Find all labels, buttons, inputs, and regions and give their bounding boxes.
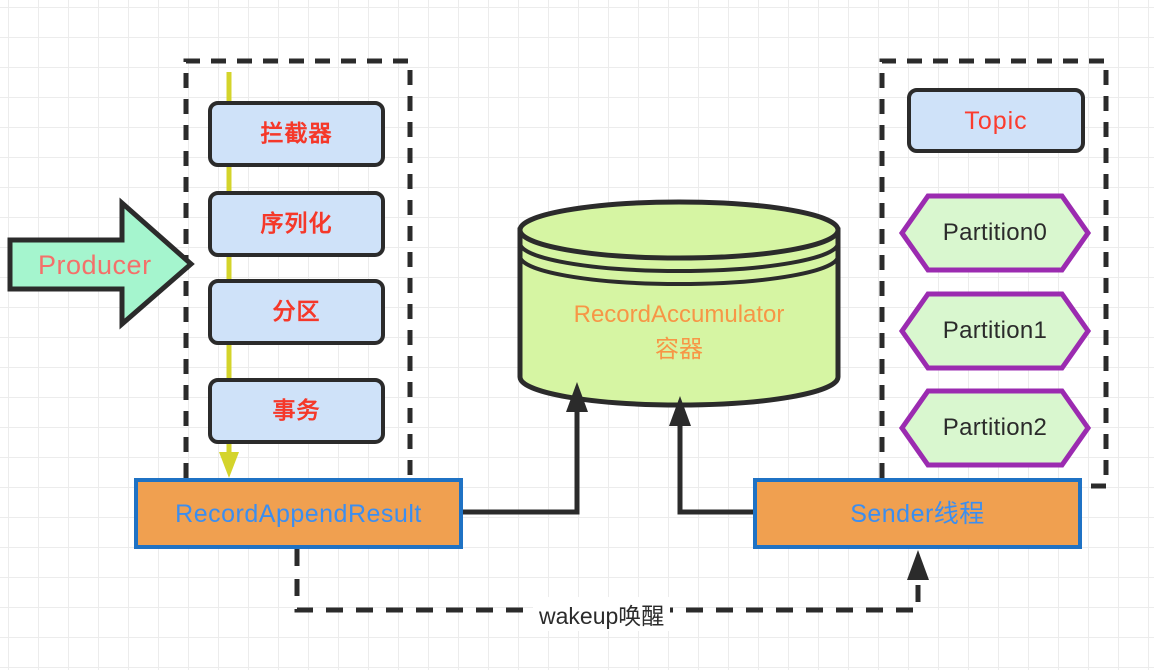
partition-2[interactable]: Partition2 xyxy=(902,391,1088,465)
pipeline-step-transaction[interactable]: 事务 xyxy=(208,378,385,444)
pipeline-step-interceptor-label: 拦截器 xyxy=(261,120,333,148)
connector-sender-to-accumulator xyxy=(669,396,753,512)
pipeline-step-transaction-label: 事务 xyxy=(273,397,321,425)
pipeline-step-partition-label: 分区 xyxy=(273,298,321,326)
diagram-canvas: Producer 拦截器 序列化 分区 事务 RecordAccumulator… xyxy=(0,0,1154,670)
topic-box[interactable]: Topic xyxy=(907,88,1085,153)
pipeline-step-serialization[interactable]: 序列化 xyxy=(208,191,385,257)
sender-thread-box[interactable]: Sender线程 xyxy=(753,478,1082,549)
pipeline-step-interceptor[interactable]: 拦截器 xyxy=(208,101,385,167)
record-accumulator-label: RecordAccumulator 容器 xyxy=(520,298,838,368)
producer-arrow-shape xyxy=(10,203,191,324)
partition-1-label: Partition1 xyxy=(902,294,1088,368)
record-accumulator-subtitle: 容器 xyxy=(520,333,838,368)
pipeline-step-partition[interactable]: 分区 xyxy=(208,279,385,345)
record-append-result-label: RecordAppendResult xyxy=(175,499,422,529)
record-append-result-box[interactable]: RecordAppendResult xyxy=(134,478,463,549)
record-accumulator-title: RecordAccumulator xyxy=(520,298,838,333)
connector-append-to-accumulator xyxy=(463,382,588,512)
connector-wakeup-dashed xyxy=(297,549,929,610)
partition-2-label: Partition2 xyxy=(902,391,1088,465)
sender-thread-label: Sender线程 xyxy=(850,499,985,529)
topic-label: Topic xyxy=(964,106,1027,136)
pipeline-step-serialization-label: 序列化 xyxy=(261,210,333,238)
partition-0-label: Partition0 xyxy=(902,196,1088,270)
partition-1[interactable]: Partition1 xyxy=(902,294,1088,368)
partition-0[interactable]: Partition0 xyxy=(902,196,1088,270)
